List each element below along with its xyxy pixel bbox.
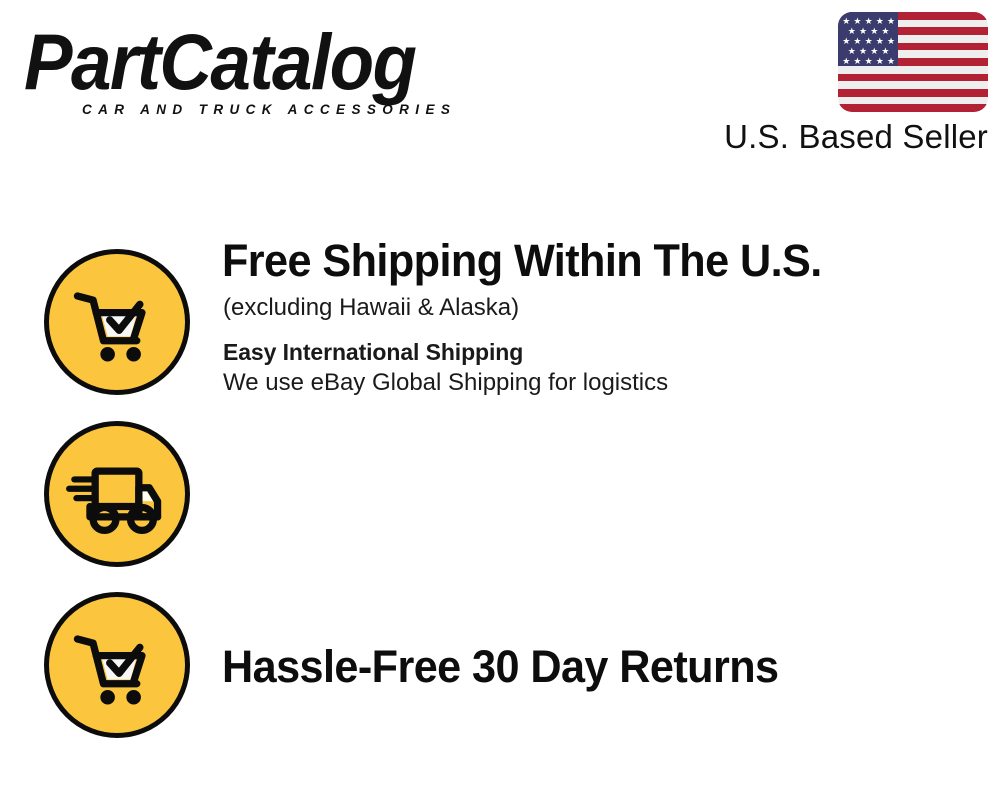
feature-heading: Free Shipping Within The U.S. xyxy=(222,234,822,288)
flag-star: ★ xyxy=(865,37,873,46)
flag-star: ★ xyxy=(876,57,884,66)
flag-star: ★ xyxy=(853,37,861,46)
feature-row-same-day: Most Orders Ship Same Day xyxy=(0,575,1000,747)
feature-row-returns: Hassle-Free 30 Day Returns xyxy=(0,404,1000,576)
feature-subtext-logistics: We use eBay Global Shipping for logistic… xyxy=(223,367,668,399)
flag-stripe xyxy=(838,74,988,82)
flag-star: ★ xyxy=(865,57,873,66)
flag-star: ★ xyxy=(859,47,867,56)
flag-star: ★ xyxy=(848,27,856,36)
flag-star: ★ xyxy=(887,37,895,46)
flag-star: ★ xyxy=(842,57,850,66)
seller-banner: PartCatalog CAR AND TRUCK ACCESSORIES ★★… xyxy=(0,0,1000,800)
flag-star: ★ xyxy=(865,17,873,26)
flag-star: ★ xyxy=(881,47,889,56)
flag-star: ★ xyxy=(876,17,884,26)
flag-star: ★ xyxy=(853,57,861,66)
logo-wordmark: PartCatalog xyxy=(24,22,513,103)
flag-stripe xyxy=(838,104,988,112)
shopping-cart-check-icon xyxy=(44,249,190,395)
delivery-truck-icon xyxy=(44,421,190,567)
flag-star: ★ xyxy=(842,37,850,46)
logo-tagline: CAR AND TRUCK ACCESSORIES xyxy=(82,102,456,117)
feature-subtext-exclusions: (excluding Hawaii & Alaska) xyxy=(223,292,519,324)
us-flag-badge: ★★★★★★★★★★★★★★★★★★★★★★★ xyxy=(838,12,988,112)
flag-star: ★ xyxy=(853,17,861,26)
feature-subheading-international: Easy International Shipping xyxy=(223,336,523,368)
flag-star: ★ xyxy=(881,27,889,36)
flag-star: ★ xyxy=(859,27,867,36)
banner-header: PartCatalog CAR AND TRUCK ACCESSORIES ★★… xyxy=(0,0,1000,175)
flag-star: ★ xyxy=(887,17,895,26)
us-flag-icon: ★★★★★★★★★★★★★★★★★★★★★★★ xyxy=(838,12,988,112)
flag-star: ★ xyxy=(870,27,878,36)
flag-star: ★ xyxy=(887,57,895,66)
shopping-cart-check-icon xyxy=(44,592,190,738)
partcatalog-logo: PartCatalog CAR AND TRUCK ACCESSORIES xyxy=(24,22,494,117)
flag-star: ★ xyxy=(870,47,878,56)
flag-star: ★ xyxy=(876,37,884,46)
feature-row-free-shipping: Free Shipping Within The U.S. (excluding… xyxy=(0,232,1000,412)
flag-star: ★ xyxy=(848,47,856,56)
flag-stripe xyxy=(838,89,988,97)
us-based-seller-label: U.S. Based Seller xyxy=(724,118,988,156)
flag-star: ★ xyxy=(842,17,850,26)
